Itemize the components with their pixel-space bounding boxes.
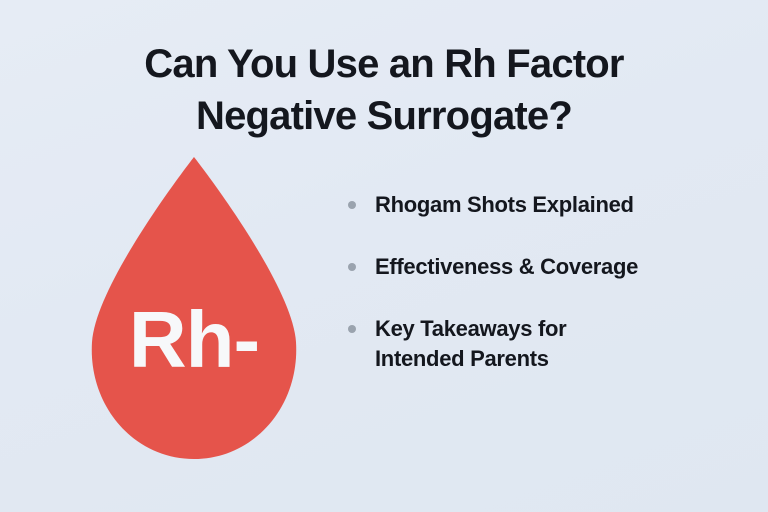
list-item: Key Takeaways for Intended Parents [348,314,748,374]
list-item-label: Effectiveness & Coverage [375,252,748,282]
infographic-card: Can You Use an Rh Factor Negative Surrog… [0,0,768,512]
list-item-label: Key Takeaways for Intended Parents [375,314,748,374]
blood-droplet-graphic: Rh- [86,154,302,462]
highlights-list: Rhogam Shots Explained Effectiveness & C… [348,190,748,374]
list-item-line-1: Effectiveness & Coverage [375,254,638,279]
bullet-dot-icon [348,263,356,271]
list-item-label: Rhogam Shots Explained [375,190,748,220]
droplet-label: Rh- [86,300,302,380]
page-title: Can You Use an Rh Factor Negative Surrog… [0,38,768,142]
bullet-dot-icon [348,201,356,209]
list-item-line-2: Intended Parents [375,344,748,374]
list-item-line-1: Key Takeaways for [375,314,748,344]
list-item: Effectiveness & Coverage [348,252,748,282]
page-title-line-1: Can You Use an Rh Factor [0,38,768,90]
list-item: Rhogam Shots Explained [348,190,748,220]
page-title-line-2: Negative Surrogate? [0,90,768,142]
bullet-dot-icon [348,325,356,333]
list-item-line-1: Rhogam Shots Explained [375,192,634,217]
